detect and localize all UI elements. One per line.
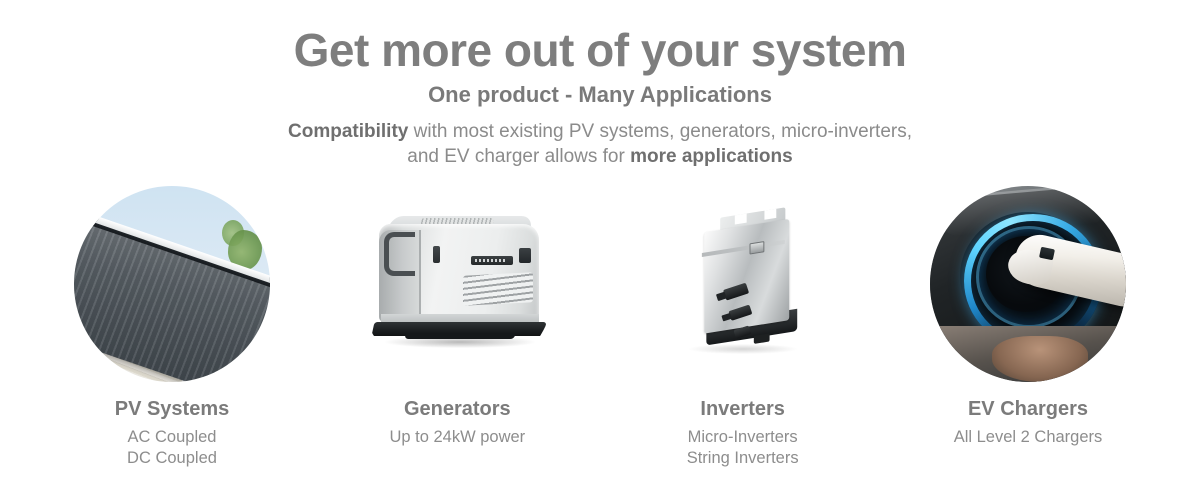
promo-banner: Get more out of your system One product … <box>0 0 1200 492</box>
micro-inverter-photo <box>645 186 841 382</box>
card-subline: Up to 24kW power <box>389 427 525 448</box>
card-title: Inverters <box>700 398 785 421</box>
card-generators[interactable]: Generators Up to 24kW power <box>341 186 573 469</box>
card-title: Generators <box>404 398 511 421</box>
mounting-notch <box>764 209 776 220</box>
generator-latch <box>519 248 531 263</box>
page-subtitle: One product - Many Applications <box>0 82 1200 107</box>
inverter-tab <box>753 333 769 344</box>
inverter-chassis <box>704 219 789 334</box>
description-text-1: with most existing PV systems, generator… <box>408 121 912 142</box>
card-subline: DC Coupled <box>127 448 217 469</box>
generator-latch <box>433 246 440 263</box>
card-sublines: Up to 24kW power <box>389 427 525 448</box>
generator-brand-badge <box>471 256 513 265</box>
generator-photo <box>359 186 555 382</box>
description-bold-compatibility: Compatibility <box>288 121 408 142</box>
inverter-port <box>749 241 764 254</box>
card-subline: AC Coupled <box>127 427 217 448</box>
card-inverters[interactable]: Inverters Micro-Inverters String Inverte… <box>627 186 859 469</box>
description-text-2: and EV charger allows for <box>407 146 630 167</box>
page-description: Compatibility with most existing PV syst… <box>0 119 1200 169</box>
page-title: Get more out of your system <box>0 26 1200 74</box>
card-subline: Micro-Inverters <box>687 427 799 448</box>
ev-charger-photo <box>930 186 1126 382</box>
pv-system-roof-photo <box>74 186 270 382</box>
card-subline: All Level 2 Chargers <box>954 427 1103 448</box>
panel-seam <box>419 230 421 320</box>
card-sublines: Micro-Inverters String Inverters <box>687 427 799 469</box>
header-block: Get more out of your system One product … <box>0 0 1200 169</box>
mounting-notch <box>734 213 746 224</box>
card-sublines: AC Coupled DC Coupled <box>127 427 217 469</box>
card-pv-systems[interactable]: PV Systems AC Coupled DC Coupled <box>56 186 288 469</box>
card-subline: String Inverters <box>687 448 799 469</box>
card-ev-chargers[interactable]: EV Chargers All Level 2 Chargers <box>912 186 1144 469</box>
application-cards-row: PV Systems AC Coupled DC Coupled <box>0 186 1200 469</box>
description-bold-more-applications: more applications <box>630 146 793 167</box>
generator-handle <box>384 232 415 276</box>
card-title: EV Chargers <box>968 398 1088 421</box>
hand-holding-connector <box>992 336 1088 382</box>
generator-vent-louvers <box>463 272 533 306</box>
card-sublines: All Level 2 Chargers <box>954 427 1103 448</box>
card-title: PV Systems <box>115 398 230 421</box>
generator-foot <box>405 333 516 339</box>
